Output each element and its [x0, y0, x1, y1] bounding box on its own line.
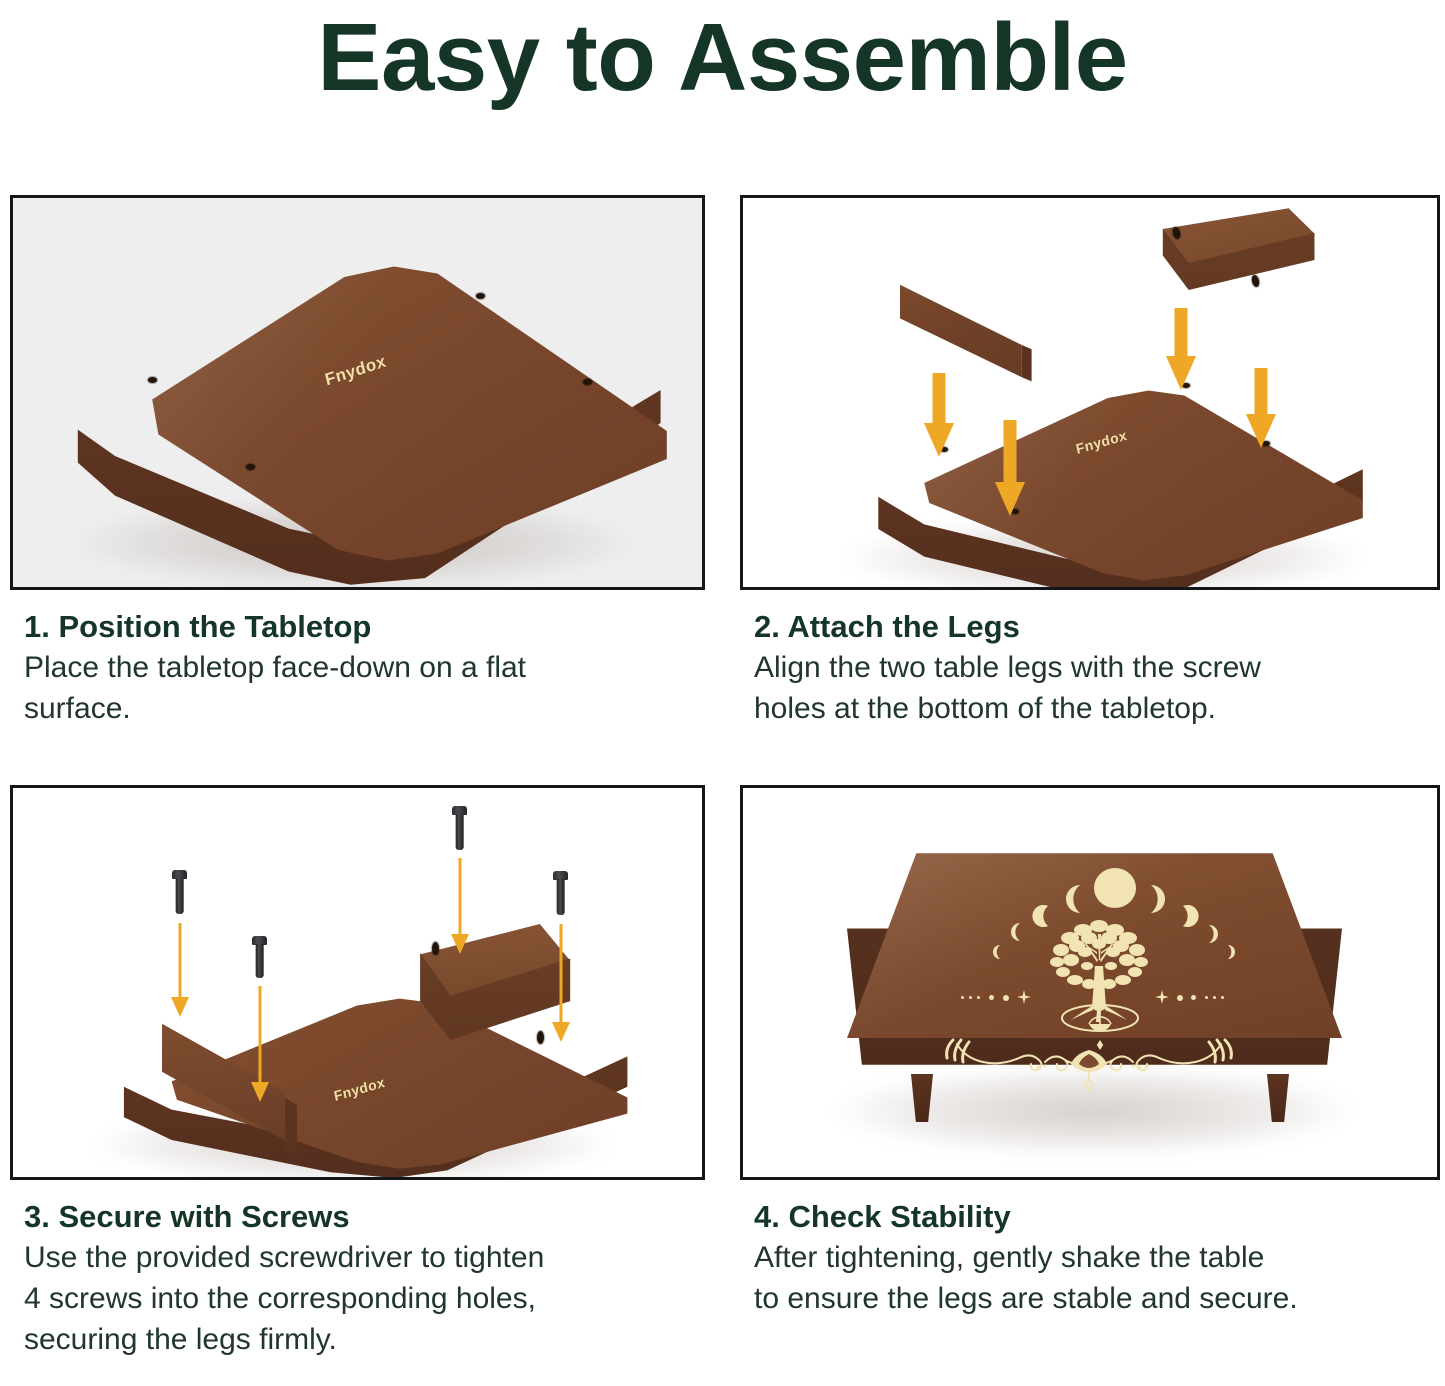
gold-dot: [969, 996, 972, 999]
screw-hole: [246, 464, 255, 470]
sparkle-icon-right: [1155, 990, 1169, 1009]
screw-insert-arrow: [451, 858, 469, 954]
alignment-arrow: [995, 420, 1025, 516]
screw-shank: [255, 944, 264, 978]
arrow-head: [171, 997, 189, 1017]
arrow-shaft: [560, 924, 563, 1022]
step-4-body-line-2: to ensure the legs are stable and secure…: [754, 1278, 1298, 1319]
step-2-caption: 2. Attach the Legs Align the two table l…: [754, 607, 1261, 729]
arrow-shaft: [259, 986, 262, 1082]
step-4-heading: 4. Check Stability: [754, 1197, 1298, 1237]
step-1-body-line-2: surface.: [24, 688, 526, 729]
arrow-head: [1246, 414, 1276, 448]
arrow-head: [1166, 356, 1196, 390]
arrow-shaft: [1004, 420, 1017, 486]
step-3-body-line-3: securing the legs firmly.: [24, 1319, 544, 1360]
moon-phase-7-crescent: [1204, 924, 1222, 949]
sparkle-icon-left: [1017, 990, 1031, 1009]
screw: [452, 806, 467, 850]
gold-dot: [977, 996, 980, 999]
leg-screw-hole: [1251, 274, 1261, 287]
gold-dot: [1205, 996, 1208, 999]
assembly-instructions-page: Easy to Assemble Fnydox 1.: [0, 0, 1445, 1386]
leg-screw-hole: [537, 1031, 544, 1044]
screw: [172, 870, 187, 914]
gold-dot: [989, 995, 994, 1000]
step-2-illustration-panel: Fnydox: [740, 195, 1440, 590]
alignment-arrow: [924, 373, 954, 457]
arrow-shaft: [459, 858, 462, 934]
arrow-head: [995, 482, 1025, 516]
attach-legs-illustration: Fnydox: [743, 198, 1437, 587]
gold-dot: [961, 996, 964, 999]
step-4-caption: 4. Check Stability After tightening, gen…: [754, 1197, 1298, 1319]
filigree-flourish: [939, 1032, 1239, 1099]
screw-shank: [455, 814, 464, 850]
gold-dot: [1191, 995, 1196, 1000]
screw-hole: [476, 293, 485, 299]
gold-engraving-group: [847, 846, 1342, 1086]
step-3-body-line-2: 4 screws into the corresponding holes,: [24, 1278, 544, 1319]
arrow-head: [552, 1022, 570, 1042]
moon-phase-8-thin-crescent: [989, 944, 1003, 965]
step-2-body-line-1: Align the two table legs with the screw: [754, 647, 1261, 688]
page-title: Easy to Assemble: [0, 2, 1445, 114]
screw-insert-arrow: [171, 923, 189, 1017]
tabletop-face-down-illustration: Fnydox: [13, 198, 702, 587]
arrow-head: [924, 423, 954, 457]
arrow-shaft: [1255, 368, 1268, 418]
arrow-shaft: [1175, 308, 1188, 360]
alignment-arrow: [1246, 368, 1276, 448]
gold-dot: [1221, 996, 1224, 999]
alignment-arrow: [1166, 308, 1196, 390]
step-1-body-line-1: Place the tabletop face-down on a flat: [24, 647, 526, 688]
moon-phase-9-thin-crescent: [1225, 944, 1239, 965]
step-2-body-line-2: holes at the bottom of the tabletop.: [754, 688, 1261, 729]
screw-hole: [583, 379, 592, 385]
leg-screw-hole: [432, 942, 439, 955]
secure-with-screws-illustration: Fnydox: [13, 788, 702, 1177]
step-3-heading: 3. Secure with Screws: [24, 1197, 544, 1237]
screw-hole: [148, 377, 157, 383]
step-3-caption: 3. Secure with Screws Use the provided s…: [24, 1197, 544, 1360]
step-3-body-line-1: Use the provided screwdriver to tighten: [24, 1237, 544, 1278]
step-3-illustration-panel: Fnydox: [10, 785, 705, 1180]
moon-phase-6-crescent: [1177, 904, 1199, 933]
screw: [553, 871, 568, 915]
moon-phase-1-crescent: [1007, 922, 1025, 947]
step-1-caption: 1. Position the Tabletop Place the table…: [24, 607, 526, 729]
gold-dot: [1213, 996, 1216, 999]
screw-insert-arrow: [552, 924, 570, 1042]
step-1-illustration-panel: Fnydox: [10, 195, 705, 590]
screw: [252, 936, 267, 978]
screw-shank: [175, 878, 184, 914]
gold-dot: [1177, 995, 1183, 1001]
table-leg-left-floating: [893, 268, 1033, 408]
step-1-heading: 1. Position the Tabletop: [24, 607, 526, 647]
finished-table-illustration: [743, 788, 1437, 1177]
arrow-shaft: [179, 923, 182, 997]
arrow-shaft: [933, 373, 946, 427]
gold-dot: [1003, 995, 1009, 1001]
screw-insert-arrow: [251, 986, 269, 1102]
arrow-head: [451, 934, 469, 954]
step-4-body-line-1: After tightening, gently shake the table: [754, 1237, 1298, 1278]
arrow-head: [251, 1082, 269, 1102]
step-4-illustration-panel: [740, 785, 1440, 1180]
moon-phase-4-full: [1094, 868, 1136, 908]
screw-shank: [556, 879, 565, 915]
step-2-heading: 2. Attach the Legs: [754, 607, 1261, 647]
